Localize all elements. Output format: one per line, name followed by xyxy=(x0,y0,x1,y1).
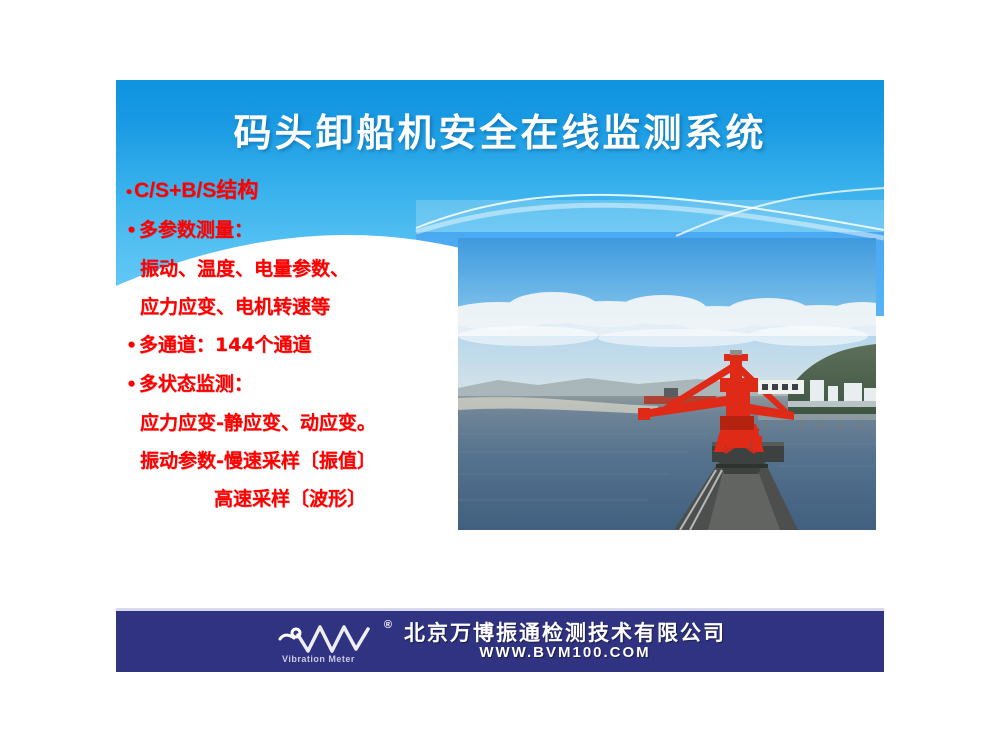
company-website: WWW.BVM100.COM xyxy=(479,645,650,662)
list-item: 应力应变、电机转速等 xyxy=(126,288,476,326)
list-item: 振动参数-慢速采样〔振值〕 xyxy=(126,442,476,480)
footer-text-group: 北京万博振通检测技术有限公司 WWW.BVM100.COM xyxy=(404,622,726,662)
list-item: 振动、温度、电量参数、 xyxy=(126,250,476,288)
vibration-meter-logo: ® Vibration Meter xyxy=(274,619,394,665)
list-item: 多参数测量： xyxy=(126,211,476,250)
list-item: 多通道：144个通道 xyxy=(126,326,476,365)
list-item: C/S+B/S结构 xyxy=(126,172,476,211)
slide-canvas: 码头卸船机安全在线监测系统 C/S+B/S结构 多参数测量： 振动、温度、电量参… xyxy=(116,80,884,672)
list-item: 多状态监测： xyxy=(126,365,476,404)
company-name: 北京万博振通检测技术有限公司 xyxy=(404,622,726,645)
registered-mark-icon: ® xyxy=(384,619,392,631)
ship-unloader-photo xyxy=(458,238,876,530)
list-item: 高速采样〔波形〕 xyxy=(126,480,476,518)
page-title: 码头卸船机安全在线监测系统 xyxy=(116,102,884,157)
logo-subtitle: Vibration Meter xyxy=(282,654,355,664)
vm-wave-icon xyxy=(274,619,394,655)
list-item: 应力应变-静应变、动应变。 xyxy=(126,404,476,442)
footer-bar: ® Vibration Meter 北京万博振通检测技术有限公司 WWW.BVM… xyxy=(116,608,884,672)
bullet-list: C/S+B/S结构 多参数测量： 振动、温度、电量参数、 应力应变、电机转速等 … xyxy=(126,172,476,518)
